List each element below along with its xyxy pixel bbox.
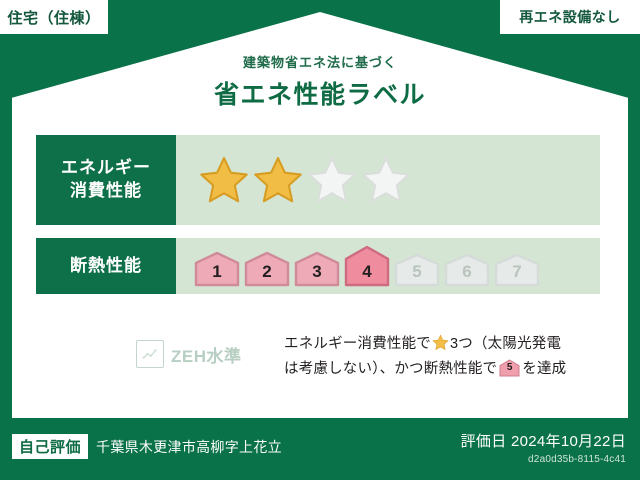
insulation-level-marker: 2 bbox=[244, 251, 290, 287]
star-icon bbox=[432, 334, 449, 351]
star-icon-empty bbox=[360, 155, 412, 205]
renewable-energy-tag: 再エネ設備なし bbox=[500, 0, 640, 34]
energy-label-line2: 消費性能 bbox=[70, 180, 142, 203]
energy-performance-label: 住宅（住棟） 再エネ設備なし 建築物省エネ法に基づく 省エネ性能ラベル エネルギ… bbox=[0, 0, 640, 480]
insulation-level-number: 3 bbox=[294, 262, 340, 282]
insulation-level-number: 7 bbox=[494, 262, 540, 282]
property-address: 千葉県木更津市高柳字上花立 bbox=[96, 437, 282, 457]
zeh-desc-part3: は考慮しない）、かつ断熱性能で bbox=[284, 361, 497, 377]
zeh-desc-part4: を達成 bbox=[522, 361, 566, 377]
evaluation-type-badge: 自己評価 bbox=[12, 434, 88, 459]
zeh-chart-icon bbox=[136, 340, 164, 368]
star-icon-empty bbox=[306, 155, 358, 205]
house-marker-icon: 5 bbox=[499, 359, 520, 377]
zeh-description: エネルギー消費性能で3つ（太陽光発電は考慮しない）、かつ断熱性能で5を達成 bbox=[284, 330, 600, 383]
zeh-badge: ZEH水準 bbox=[36, 330, 284, 368]
energy-label-line1: エネルギー bbox=[61, 157, 151, 180]
insulation-level-number: 2 bbox=[244, 262, 290, 282]
building-type-tag: 住宅（住棟） bbox=[0, 0, 108, 34]
star-icon-filled bbox=[252, 155, 304, 205]
title-main: 省エネ性能ラベル bbox=[0, 75, 640, 111]
star-icon-filled bbox=[198, 155, 250, 205]
energy-performance-row: エネルギー 消費性能 bbox=[36, 135, 600, 225]
footer-left-group: 自己評価 千葉県木更津市高柳字上花立 bbox=[12, 434, 282, 459]
zeh-standard-block: ZEH水準 エネルギー消費性能で3つ（太陽光発電は考慮しない）、かつ断熱性能で5… bbox=[36, 330, 600, 383]
insulation-level-scale: 1234567 bbox=[194, 245, 540, 287]
footer-right-group: 評価日 2024年10月22日 d2a0d35b-8115-4c41 bbox=[461, 430, 626, 465]
title-subtitle: 建築物省エネ法に基づく bbox=[0, 52, 640, 71]
energy-performance-value bbox=[176, 135, 600, 225]
insulation-level-number: 4 bbox=[344, 262, 390, 282]
insulation-level-marker: 7 bbox=[494, 253, 540, 287]
insulation-level-number: 1 bbox=[194, 262, 240, 282]
insulation-performance-value: 1234567 bbox=[176, 238, 600, 294]
insulation-performance-label: 断熱性能 bbox=[36, 238, 176, 294]
insulation-level-number: 6 bbox=[444, 262, 490, 282]
zeh-desc-house-level: 5 bbox=[499, 359, 520, 377]
evaluation-date: 評価日 2024年10月22日 bbox=[461, 430, 626, 451]
energy-performance-label: エネルギー 消費性能 bbox=[36, 135, 176, 225]
insulation-level-marker: 6 bbox=[444, 253, 490, 287]
insulation-level-number: 5 bbox=[394, 262, 440, 282]
zeh-desc-part2: 3つ（太陽光発電 bbox=[450, 336, 561, 352]
zeh-label: ZEH水準 bbox=[171, 342, 242, 367]
insulation-level-marker: 3 bbox=[294, 251, 340, 287]
zeh-desc-part1: エネルギー消費性能で bbox=[284, 336, 431, 352]
insulation-performance-row: 断熱性能 1234567 bbox=[36, 238, 600, 294]
star-rating bbox=[198, 155, 412, 205]
label-footer: 自己評価 千葉県木更津市高柳字上花立 評価日 2024年10月22日 d2a0d… bbox=[0, 418, 640, 480]
insulation-level-marker: 5 bbox=[394, 253, 440, 287]
insulation-level-marker: 4 bbox=[344, 245, 390, 287]
insulation-level-marker: 1 bbox=[194, 251, 240, 287]
label-title: 建築物省エネ法に基づく 省エネ性能ラベル bbox=[0, 52, 640, 111]
document-id: d2a0d35b-8115-4c41 bbox=[461, 454, 626, 465]
